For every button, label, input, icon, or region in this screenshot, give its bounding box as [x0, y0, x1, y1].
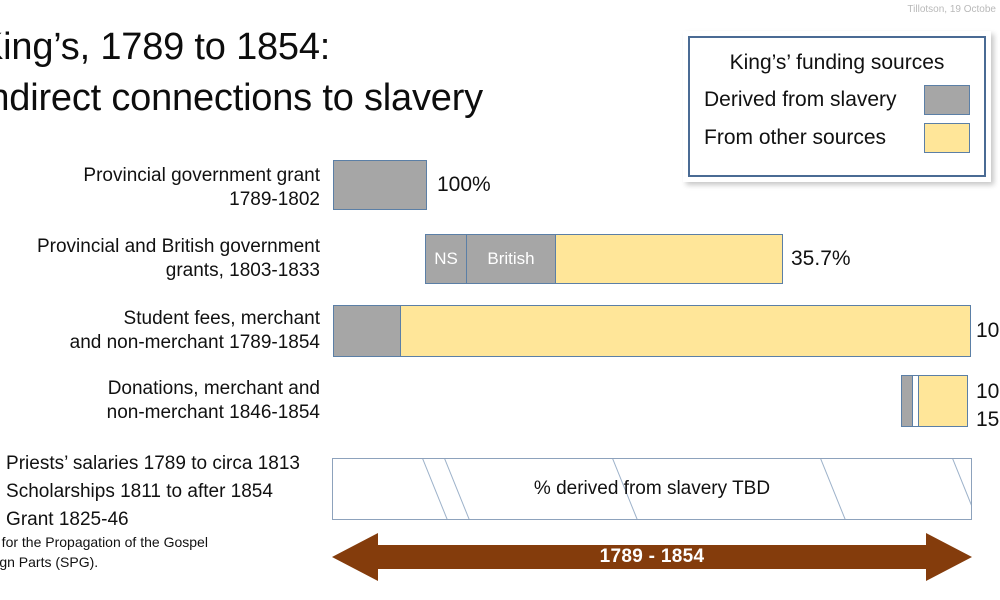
row-value-2: 35.7% [791, 247, 851, 271]
title-line-2: Indirect connections to slavery [0, 73, 678, 124]
row-value-4: 10 15 [976, 378, 999, 435]
spg-note-2: G Scholarships 1811 to after 1854 [0, 478, 326, 506]
timeline-arrow: 1789 - 1854 [332, 533, 972, 581]
chart-row-1: Provincial government grant 1789-1802 10… [0, 160, 1000, 210]
legend-inner: King’s’ funding sources Derived from sla… [688, 36, 986, 177]
bar-segment-slavery [333, 305, 401, 357]
tbd-label: % derived from slavery TBD [333, 459, 971, 519]
row-label-3-line2: and non-merchant 1789-1854 [0, 331, 320, 355]
row-label-3: Student fees, merchant and non-merchant … [0, 307, 320, 356]
row-value-3: 10% [976, 319, 1000, 343]
row-label-4-line1: Donations, merchant and [108, 378, 320, 399]
legend-item-slavery: Derived from slavery [704, 85, 970, 115]
row-label-1: Provincial government grant 1789-1802 [0, 164, 320, 213]
legend-title: King’s’ funding sources [704, 51, 970, 75]
bar-segment-british: British [467, 234, 556, 284]
bar-segment-other [556, 234, 783, 284]
bar-segment-other [918, 375, 968, 427]
legend-label-other: From other sources [704, 126, 886, 150]
row-value-4-line1: 10 [976, 380, 999, 403]
bar-segment-other [401, 305, 971, 357]
row-label-4: Donations, merchant and non-merchant 184… [0, 377, 320, 426]
row-label-4-line2: non-merchant 1846-1854 [0, 401, 320, 425]
legend-label-slavery: Derived from slavery [704, 88, 897, 112]
bar-row-3 [333, 305, 971, 357]
footnote-line-2: oreign Parts (SPG). [0, 553, 276, 573]
slide-canvas: Tillotson, 19 Octobe King’s, 1789 to 185… [0, 0, 1000, 600]
spg-note-3: G Grant 1825-46 [0, 506, 326, 534]
chart-row-2: Provincial and British government grants… [0, 234, 1000, 284]
chart-row-4: Donations, merchant and non-merchant 184… [0, 375, 1000, 427]
legend-swatch-other [924, 123, 970, 153]
spg-note-1: G Priests’ salaries 1789 to circa 1813 [0, 450, 326, 478]
row-value-1: 100% [437, 173, 491, 197]
row-label-2: Provincial and British government grants… [0, 235, 320, 284]
row-label-2-line1: Provincial and British government [37, 236, 320, 257]
row-value-4-line2: 15 [976, 406, 999, 434]
bar-row-4 [901, 375, 968, 427]
bar-row-1 [333, 160, 427, 210]
chart-row-3: Student fees, merchant and non-merchant … [0, 305, 1000, 357]
timeline-label: 1789 - 1854 [332, 533, 972, 581]
footnote-line-1: iety for the Propagation of the Gospel [0, 533, 276, 553]
row-label-1-line1: Provincial government grant [83, 165, 320, 186]
bar-segment-slavery [333, 160, 427, 210]
footnote: iety for the Propagation of the Gospel o… [0, 533, 276, 573]
tbd-box: % derived from slavery TBD [332, 458, 972, 520]
row-label-2-line2: grants, 1803-1833 [0, 259, 320, 283]
page-title: King’s, 1789 to 1854: Indirect connectio… [0, 22, 678, 125]
bar-segment-slavery [901, 375, 913, 427]
legend-item-other: From other sources [704, 123, 970, 153]
row-label-1-line2: 1789-1802 [0, 188, 320, 212]
row-label-3-line1: Student fees, merchant [124, 308, 320, 329]
bar-segment-ns: NS [425, 234, 467, 284]
bar-row-2: NS British [425, 234, 783, 284]
attribution-text: Tillotson, 19 Octobe [907, 4, 996, 15]
legend-swatch-slavery [924, 85, 970, 115]
title-line-1: King’s, 1789 to 1854: [0, 22, 678, 73]
spg-notes: G Priests’ salaries 1789 to circa 1813 G… [0, 450, 326, 534]
